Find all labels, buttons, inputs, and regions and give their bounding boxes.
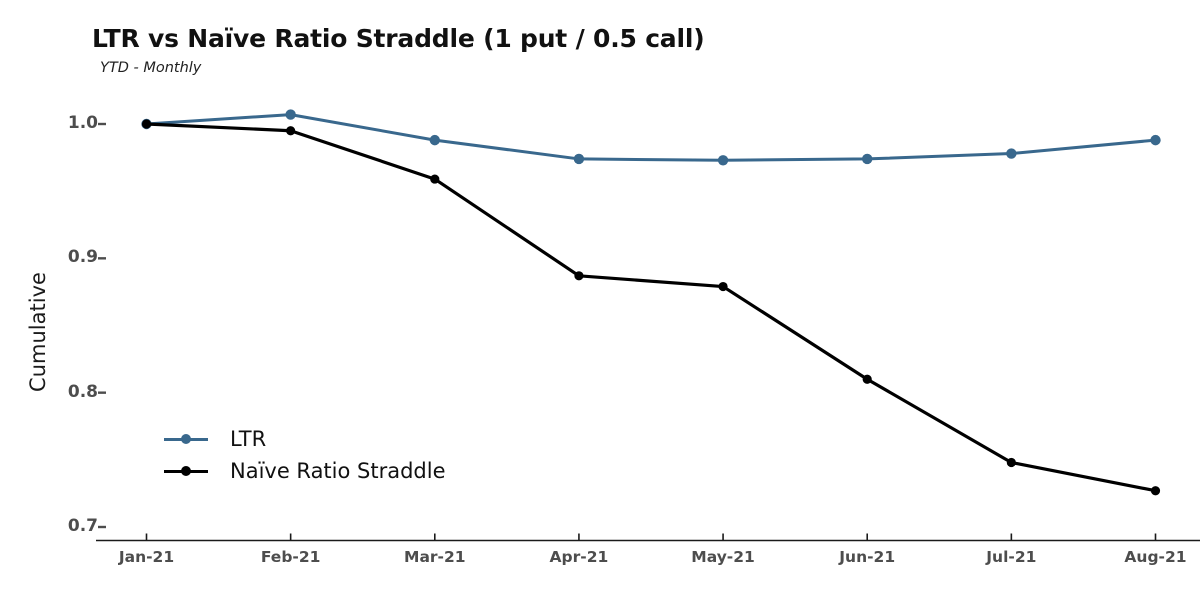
legend-label-naive-ratio-straddle: Naïve Ratio Straddle — [230, 459, 446, 483]
data-point — [718, 155, 728, 165]
legend-label-ltr: LTR — [230, 427, 266, 451]
data-point — [862, 154, 872, 164]
data-point — [574, 271, 583, 280]
plot-area — [0, 0, 1200, 600]
chart-container: LTR vs Naïve Ratio Straddle (1 put / 0.5… — [0, 0, 1200, 600]
data-point — [285, 109, 295, 119]
legend-item-ltr[interactable]: LTR — [164, 423, 446, 455]
chart-legend: LTR Naïve Ratio Straddle — [164, 423, 446, 487]
data-point — [1006, 148, 1016, 158]
legend-item-naive-ratio-straddle[interactable]: Naïve Ratio Straddle — [164, 455, 446, 487]
data-point — [718, 282, 727, 291]
data-point — [430, 135, 440, 145]
series-line — [147, 115, 1156, 161]
series-ltr — [141, 109, 1160, 165]
data-point — [863, 375, 872, 384]
data-point — [430, 174, 439, 183]
data-point — [142, 119, 151, 128]
legend-marker-naive-ratio-straddle — [164, 462, 208, 480]
data-point — [1007, 458, 1016, 467]
data-point — [1151, 486, 1160, 495]
data-point — [574, 154, 584, 164]
data-point — [286, 126, 295, 135]
legend-marker-ltr — [164, 430, 208, 448]
data-point — [1150, 135, 1160, 145]
